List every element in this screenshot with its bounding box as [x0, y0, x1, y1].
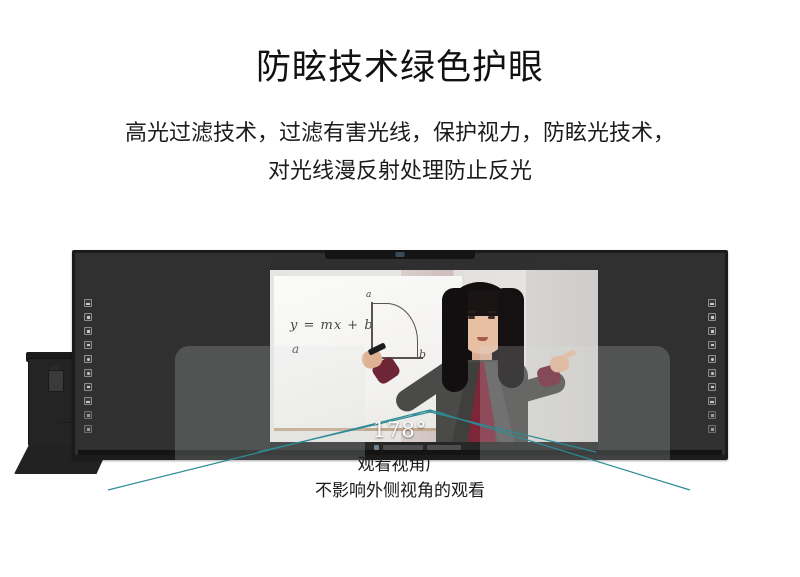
taskbar-item-1[interactable] [383, 445, 423, 450]
window-icon[interactable] [84, 341, 92, 349]
teacher-hair-left [442, 288, 468, 392]
viewing-angle-value: 178° [0, 418, 800, 442]
display-icon[interactable] [84, 299, 92, 307]
expand-icon[interactable] [84, 313, 92, 321]
grid-icon-right[interactable] [708, 383, 716, 391]
window-icon-right[interactable] [708, 341, 716, 349]
taskbar-item-2[interactable] [427, 445, 461, 450]
subtitle-line-1: 高光过滤技术，过滤有害光线，保护视力，防眩光技术， [0, 115, 800, 153]
teacher-eye-left [468, 316, 475, 319]
menu-icon[interactable] [84, 397, 92, 405]
whiteboard-equation: y = mx + b [290, 318, 374, 333]
page-title: 防眩技术绿色护眼 [0, 46, 800, 90]
teacher-eye-right [488, 316, 495, 319]
whiteboard-equation-secondary: a [292, 342, 299, 356]
teacher-brow-left [467, 311, 476, 313]
menu-icon-right[interactable] [708, 397, 716, 405]
camera-icon [396, 252, 405, 257]
teacher-hair-right [498, 288, 524, 388]
graph-label-y: a [366, 290, 371, 300]
teacher-brow-right [487, 311, 496, 313]
brightness-icon[interactable] [84, 355, 92, 363]
subtitle-line-2: 对光线漫反射处理防止反光 [0, 153, 800, 191]
caption-line-1: 观看视角广 [0, 452, 800, 478]
grid-icon[interactable] [84, 383, 92, 391]
right-icon-column [708, 299, 716, 433]
left-icon-column [84, 299, 92, 433]
contrast-icon-right[interactable] [708, 369, 716, 377]
expand-alt-icon[interactable] [84, 327, 92, 335]
caption-block: 观看视角广 不影响外侧视角的观看 [0, 452, 800, 504]
contrast-icon[interactable] [84, 369, 92, 377]
caption-line-2: 不影响外侧视角的观看 [0, 478, 800, 504]
taskbar-app-icon[interactable] [374, 445, 379, 450]
expand-icon-right[interactable] [708, 313, 716, 321]
expand-alt-icon-right[interactable] [708, 327, 716, 335]
display-icon-right[interactable] [708, 299, 716, 307]
brightness-icon-right[interactable] [708, 355, 716, 363]
subtitle-block: 高光过滤技术，过滤有害光线，保护视力，防眩光技术， 对光线漫反射处理防止反光 [0, 115, 800, 191]
top-camera-bar [325, 250, 475, 259]
